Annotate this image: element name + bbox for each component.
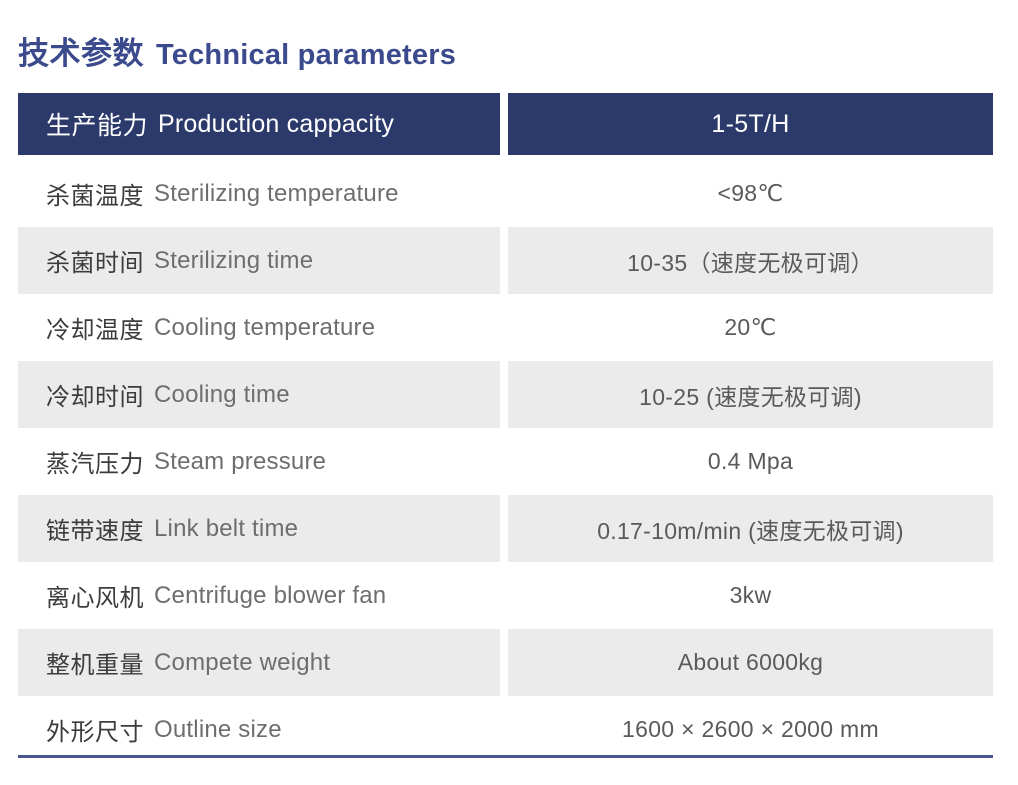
- parameter-label-cell: 整机重量Compete weight: [18, 629, 500, 696]
- parameter-value-cell: 3kw: [508, 562, 993, 629]
- parameter-label-cn: 整机重量: [46, 645, 144, 680]
- parameter-label-cn: 杀菌温度: [46, 176, 144, 211]
- column-divider: [500, 160, 508, 227]
- parameter-label-cell: 生产能力Production cappacity: [18, 93, 500, 155]
- parameter-label-cell: 蒸汽压力Steam pressure: [18, 428, 500, 495]
- parameter-label-cn: 冷却温度: [46, 310, 144, 345]
- page-title-cn: 技术参数: [18, 28, 144, 73]
- parameter-label-cell: 离心风机Centrifuge blower fan: [18, 562, 500, 629]
- parameter-value-cell: <98℃: [508, 160, 993, 227]
- parameter-value-cell: 1-5T/H: [508, 93, 993, 155]
- parameter-label-cell: 杀菌温度Sterilizing temperature: [18, 160, 500, 227]
- column-divider: [500, 428, 508, 495]
- parameter-value: 10-35（速度无极可调）: [627, 244, 874, 278]
- parameter-value-cell: 0.4 Mpa: [508, 428, 993, 495]
- column-divider: [500, 93, 508, 160]
- column-divider: [500, 294, 508, 361]
- parameter-value: 0.4 Mpa: [708, 448, 793, 475]
- parameter-value: About 6000kg: [678, 649, 824, 676]
- table-row: 整机重量Compete weightAbout 6000kg: [18, 629, 993, 696]
- parameter-value: 0.17-10m/min (速度无极可调): [597, 512, 904, 546]
- column-divider: [500, 227, 508, 294]
- parameter-value: 20℃: [724, 314, 776, 341]
- parameter-label-en: Sterilizing temperature: [154, 180, 399, 208]
- parameter-label-en: Production cappacity: [158, 110, 394, 139]
- column-divider: [500, 629, 508, 696]
- parameter-label-en: Cooling temperature: [154, 314, 375, 342]
- table-row: 杀菌时间Sterilizing time10-35（速度无极可调）: [18, 227, 993, 294]
- parameter-label-cn: 蒸汽压力: [46, 444, 144, 479]
- table-row: 离心风机Centrifuge blower fan3kw: [18, 562, 993, 629]
- table-row: 冷却温度Cooling temperature20℃: [18, 294, 993, 361]
- parameter-value-cell: 1600 × 2600 × 2000 mm: [508, 696, 993, 763]
- parameter-label-cn: 杀菌时间: [46, 243, 144, 278]
- specifications-table: 生产能力Production cappacity1-5T/H杀菌温度Steril…: [18, 93, 993, 763]
- parameter-label-cell: 链带速度Link belt time: [18, 495, 500, 562]
- page-title-en: Technical parameters: [156, 39, 456, 72]
- parameter-label-en: Cooling time: [154, 381, 290, 409]
- parameter-label-cn: 离心风机: [46, 578, 144, 613]
- parameter-label-cn: 外形尺寸: [46, 712, 144, 747]
- parameter-value-cell: About 6000kg: [508, 629, 993, 696]
- parameter-label-en: Compete weight: [154, 649, 330, 677]
- column-divider: [500, 562, 508, 629]
- parameter-value-cell: 0.17-10m/min (速度无极可调): [508, 495, 993, 562]
- table-bottom-rule: [18, 755, 993, 758]
- parameter-label-cell: 杀菌时间Sterilizing time: [18, 227, 500, 294]
- parameter-value: 1600 × 2600 × 2000 mm: [622, 716, 879, 743]
- parameter-label-cn: 冷却时间: [46, 377, 144, 412]
- parameter-label-en: Outline size: [154, 716, 282, 744]
- technical-parameters-page: 技术参数 Technical parameters 生产能力Production…: [0, 0, 1018, 785]
- column-divider: [500, 495, 508, 562]
- parameter-label-en: Sterilizing time: [154, 247, 313, 275]
- column-divider: [500, 361, 508, 428]
- parameter-label-en: Link belt time: [154, 515, 298, 543]
- parameter-value: <98℃: [717, 180, 783, 207]
- parameter-value-cell: 10-35（速度无极可调）: [508, 227, 993, 294]
- table-row: 杀菌温度Sterilizing temperature<98℃: [18, 160, 993, 227]
- table-row: 外形尺寸Outline size1600 × 2600 × 2000 mm: [18, 696, 993, 763]
- parameter-label-cell: 冷却时间Cooling time: [18, 361, 500, 428]
- parameter-value: 10-25 (速度无极可调): [639, 378, 862, 412]
- parameter-label-en: Steam pressure: [154, 448, 326, 476]
- parameter-label-en: Centrifuge blower fan: [154, 582, 386, 610]
- parameter-value-cell: 10-25 (速度无极可调): [508, 361, 993, 428]
- table-row: 冷却时间Cooling time10-25 (速度无极可调): [18, 361, 993, 428]
- parameter-label-cell: 外形尺寸Outline size: [18, 696, 500, 763]
- parameter-label-cn: 链带速度: [46, 511, 144, 546]
- parameter-value: 1-5T/H: [711, 110, 789, 139]
- table-row: 链带速度Link belt time0.17-10m/min (速度无极可调): [18, 495, 993, 562]
- parameter-value: 3kw: [730, 582, 772, 609]
- page-title: 技术参数 Technical parameters: [18, 28, 456, 72]
- parameter-value-cell: 20℃: [508, 294, 993, 361]
- parameter-label-cn: 生产能力: [46, 106, 148, 142]
- parameter-label-cell: 冷却温度Cooling temperature: [18, 294, 500, 361]
- column-divider: [500, 696, 508, 763]
- table-row: 蒸汽压力Steam pressure0.4 Mpa: [18, 428, 993, 495]
- table-header-row: 生产能力Production cappacity1-5T/H: [18, 93, 993, 155]
